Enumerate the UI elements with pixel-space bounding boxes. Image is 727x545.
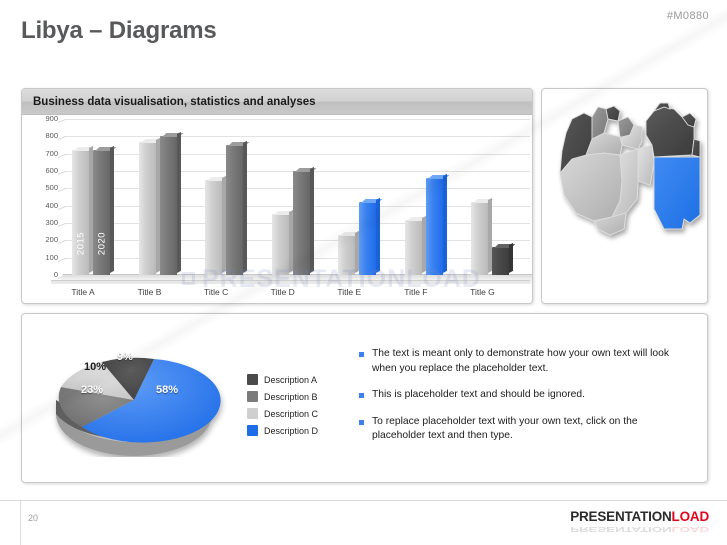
legend-item[interactable]: Description A	[247, 372, 318, 387]
logo-text-accent: LOAD	[672, 509, 709, 524]
y-axis-tick-700: 700	[32, 150, 58, 158]
legend-label: Description A	[264, 375, 317, 385]
bar: 2020	[93, 150, 110, 275]
bar-side-face	[443, 174, 447, 273]
x-axis-label: Title F	[383, 287, 449, 297]
bar-series-label: 2020	[96, 232, 107, 255]
bar-side-face	[243, 141, 247, 273]
chart-floor-front	[51, 280, 530, 284]
x-axis-label: Title B	[117, 287, 183, 297]
content-panel: 58% 23% 10% 9% Description ADescription …	[21, 313, 708, 483]
bar-side-face	[509, 243, 513, 273]
document-code: #M0880	[667, 10, 709, 22]
bullet-marker-icon	[359, 420, 364, 425]
bar-group	[139, 119, 206, 275]
pie-value-label-b: 23%	[81, 384, 103, 396]
x-axis-label: Title E	[316, 287, 382, 297]
presentationload-logo: PRESENTATIONLOAD	[570, 509, 709, 524]
footer-tick	[20, 500, 21, 545]
bar-group	[338, 119, 405, 275]
bullet-text: To replace placeholder text with your ow…	[372, 415, 689, 444]
bar	[405, 220, 422, 275]
bar-side-face	[376, 198, 380, 273]
bar-series-label: 2015	[75, 232, 86, 255]
legend-swatch	[247, 408, 258, 419]
legend-item[interactable]: Description C	[247, 406, 318, 421]
y-axis-tick-0: 0	[32, 271, 58, 279]
bar	[426, 178, 443, 275]
bullet-list: The text is meant only to demonstrate ho…	[359, 347, 689, 456]
bar-group	[405, 119, 472, 275]
bar-side-face	[310, 167, 314, 273]
bar	[293, 171, 310, 275]
page-title: Libya – Diagrams	[21, 17, 217, 45]
y-axis-tick-200: 200	[32, 236, 58, 244]
legend-label: Description C	[264, 409, 318, 419]
bullet-marker-icon	[359, 352, 364, 357]
bullet-text: This is placeholder text and should be i…	[372, 388, 585, 403]
bar	[492, 247, 509, 275]
libya-district-map-icon[interactable]	[542, 89, 707, 303]
footer-divider	[0, 500, 727, 501]
chart-panel: Business data visualisation, statistics …	[21, 88, 533, 304]
x-axis-label: Title A	[50, 287, 116, 297]
bar	[338, 235, 355, 275]
y-axis-tick-400: 400	[32, 202, 58, 210]
legend-swatch	[247, 374, 258, 385]
map-panel	[541, 88, 708, 304]
y-axis-tick-600: 600	[32, 167, 58, 175]
bullet-text: The text is meant only to demonstrate ho…	[372, 347, 689, 376]
y-axis-tick-300: 300	[32, 219, 58, 227]
bullet-marker-icon	[359, 393, 364, 398]
y-axis-tick-900: 900	[32, 115, 58, 123]
logo-text-primary: PRESENTATION	[570, 509, 671, 524]
bar-side-face	[177, 132, 181, 273]
y-axis-tick-100: 100	[32, 254, 58, 262]
legend-item[interactable]: Description B	[247, 389, 318, 404]
bar-plot-area: 20152020	[64, 119, 530, 275]
pie-value-label-a: 9%	[117, 351, 133, 363]
bullet-item[interactable]: To replace placeholder text with your ow…	[359, 415, 689, 444]
chart-panel-title: Business data visualisation, statistics …	[33, 96, 316, 108]
bar-group: 20152020	[72, 119, 139, 275]
legend-swatch	[247, 391, 258, 402]
bar-group	[471, 119, 533, 275]
y-axis-tick-500: 500	[32, 184, 58, 192]
x-axis-label: Title D	[250, 287, 316, 297]
pie-chart: 58% 23% 10% 9%	[44, 342, 234, 457]
pie-legend: Description ADescription BDescription CD…	[247, 372, 318, 440]
bar	[471, 202, 488, 275]
bar	[139, 142, 156, 275]
presentationload-logo-reflection: PRESENTATIONLOAD	[570, 525, 709, 533]
page-number: 20	[28, 513, 38, 523]
bar-side-face	[110, 146, 114, 273]
slide-canvas: Libya – Diagrams #M0880 Business data vi…	[0, 0, 727, 545]
bullet-item[interactable]: The text is meant only to demonstrate ho…	[359, 347, 689, 376]
bar-group	[272, 119, 339, 275]
x-axis-label: Title C	[183, 287, 249, 297]
y-axis: 0100200300400500600700800900	[30, 115, 58, 275]
pie-value-label-d: 58%	[156, 384, 178, 396]
bar	[272, 214, 289, 275]
bar-group	[205, 119, 272, 275]
legend-label: Description B	[264, 392, 318, 402]
legend-item[interactable]: Description D	[247, 423, 318, 438]
bar	[160, 136, 177, 275]
bar	[359, 202, 376, 275]
legend-label: Description D	[264, 426, 318, 436]
x-axis-label: Title G	[449, 287, 515, 297]
pie-value-label-c: 10%	[84, 361, 106, 373]
libya-map[interactable]	[542, 89, 707, 303]
legend-swatch	[247, 425, 258, 436]
y-axis-tick-800: 800	[32, 132, 58, 140]
bar	[226, 145, 243, 275]
bar-chart: 0100200300400500600700800900 20152020 Ti…	[22, 115, 532, 303]
bar	[205, 180, 222, 275]
chart-panel-header: Business data visualisation, statistics …	[22, 89, 532, 115]
bar: 2015	[72, 150, 89, 275]
bar-side-face	[156, 137, 160, 273]
bullet-item[interactable]: This is placeholder text and should be i…	[359, 388, 689, 403]
pie-chart-graphic	[44, 342, 234, 457]
